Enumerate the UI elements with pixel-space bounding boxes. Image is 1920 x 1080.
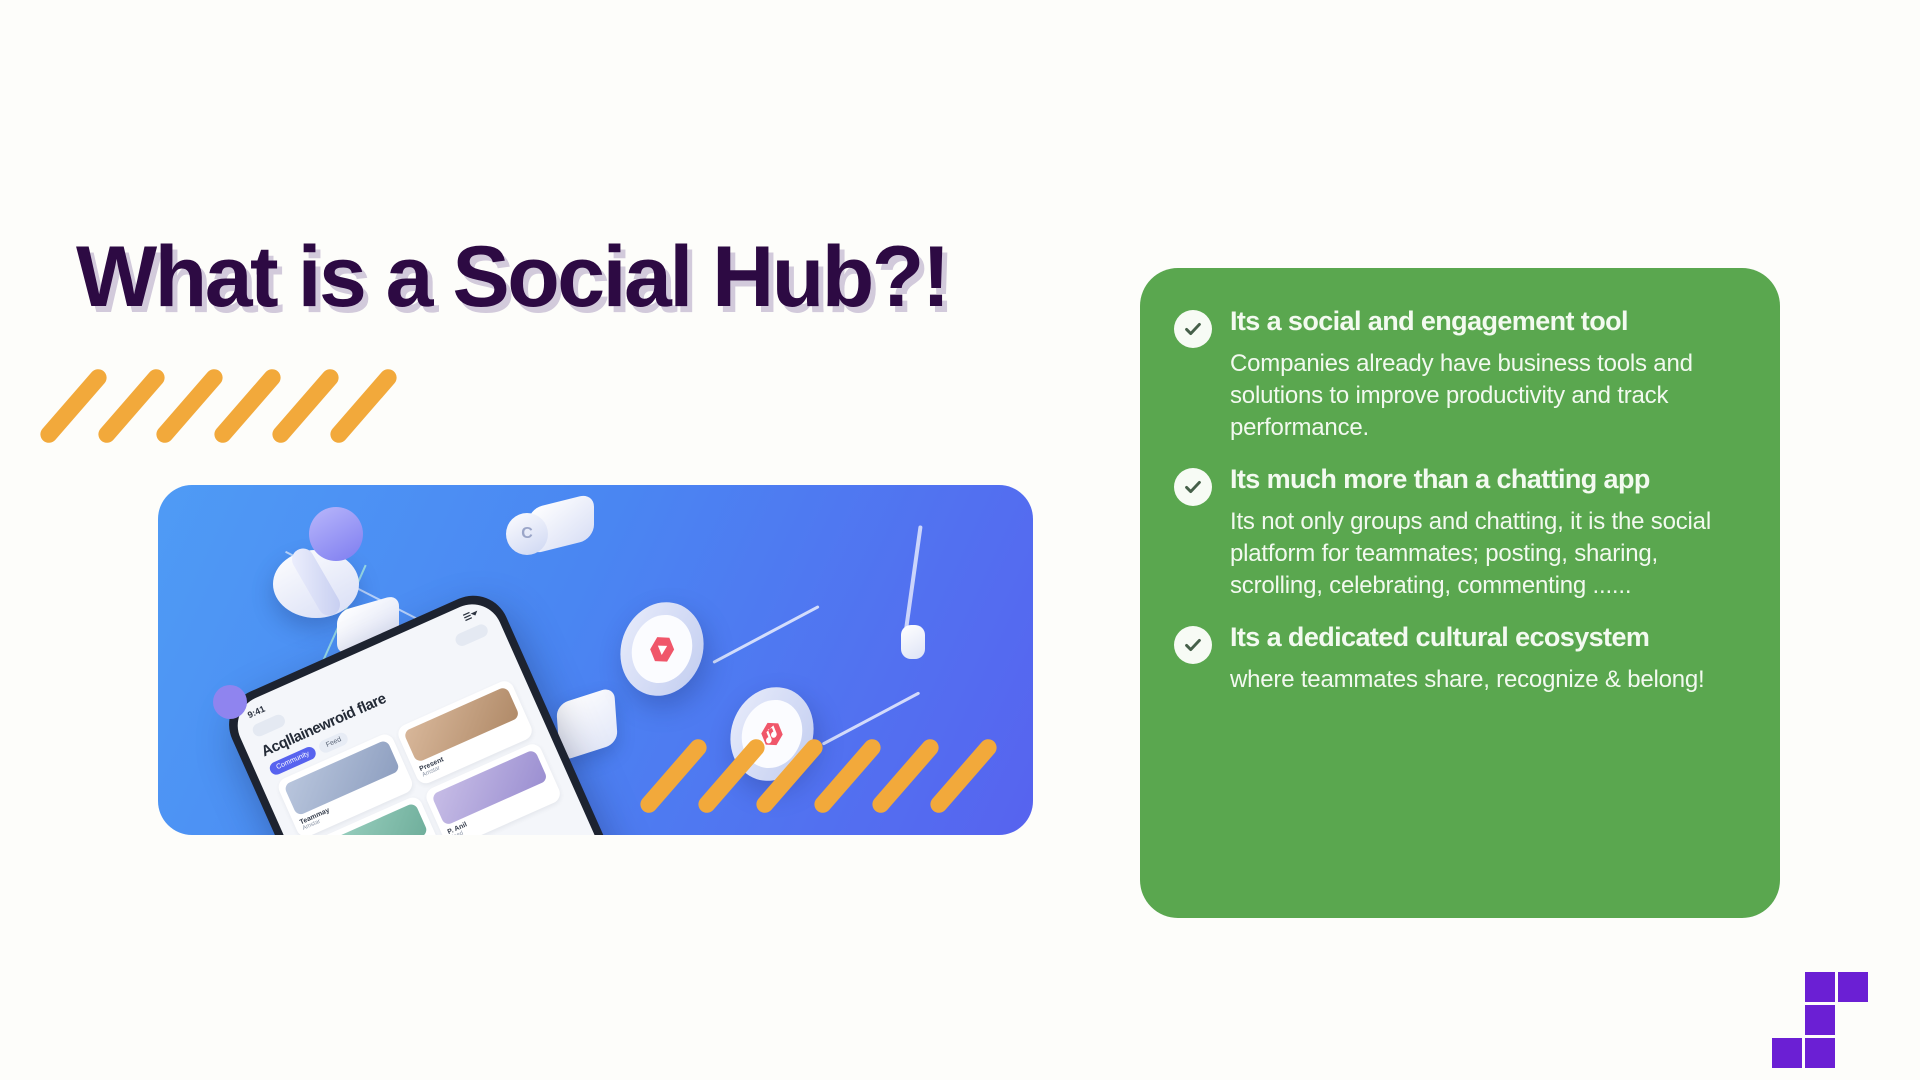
- feature-item: Its a social and engagement tool Compani…: [1174, 306, 1736, 444]
- check-mark: [1182, 634, 1204, 656]
- stripe: [153, 366, 226, 447]
- music-note-icon: [753, 712, 790, 755]
- check-mark: [1182, 476, 1204, 498]
- disc-needle-2: [822, 691, 921, 745]
- stripe: [211, 366, 284, 447]
- feature-body: Its a social and engagement tool Compani…: [1230, 306, 1736, 444]
- music-disc-icon: [717, 670, 826, 797]
- feature-body: Its much more than a chatting app Its no…: [1230, 464, 1736, 602]
- play-disc-face: [622, 603, 702, 696]
- logo-cell: [1772, 1038, 1802, 1068]
- check-circle-icon: [1174, 468, 1212, 506]
- feature-text: where teammates share, recognize & belon…: [1230, 664, 1736, 696]
- feature-title: Its much more than a chatting app: [1230, 464, 1736, 495]
- illustration-container: C: [75, 425, 1050, 835]
- logo-cell: [1838, 1005, 1868, 1035]
- cable-plug-icon: [893, 525, 933, 675]
- logo-cell: [1772, 1005, 1802, 1035]
- stripe: [37, 366, 110, 447]
- features-card: Its a social and engagement tool Compani…: [1140, 268, 1780, 918]
- logo-cell: [1838, 1038, 1868, 1068]
- page-title: What is a Social Hub?!: [76, 228, 948, 327]
- music-disc-face: [732, 688, 812, 781]
- joystick-ball: [309, 507, 363, 561]
- checkerboard-logo: [1772, 972, 1868, 1068]
- feature-text: Its not only groups and chatting, it is …: [1230, 506, 1736, 602]
- disc-needle: [712, 605, 819, 664]
- play-icon: [641, 624, 683, 673]
- logo-cell: [1772, 972, 1802, 1002]
- decorative-dot: [213, 685, 247, 719]
- camera-lens: C: [506, 513, 548, 555]
- stripe-group-top: [65, 360, 485, 470]
- stripe: [95, 366, 168, 447]
- logo-cell: [1805, 1005, 1835, 1035]
- joystick-icon: [263, 505, 383, 625]
- logo-cell: [1838, 972, 1868, 1002]
- cable-line: [903, 525, 922, 634]
- cable-plug: [901, 625, 925, 659]
- feature-item: Its much more than a chatting app Its no…: [1174, 464, 1736, 602]
- stripe: [269, 366, 342, 447]
- check-mark: [1182, 318, 1204, 340]
- check-circle-icon: [1174, 310, 1212, 348]
- logo-cell: [1805, 1038, 1835, 1068]
- feature-text: Companies already have business tools an…: [1230, 348, 1736, 444]
- camera-icon: C: [506, 493, 596, 563]
- feature-title: Its a dedicated cultural ecosystem: [1230, 622, 1736, 653]
- play-disc-icon: [607, 585, 716, 712]
- check-circle-icon: [1174, 626, 1212, 664]
- illustration-blue-card: C: [158, 485, 1033, 835]
- logo-cell: [1805, 972, 1835, 1002]
- feature-item: Its a dedicated cultural ecosystem where…: [1174, 622, 1736, 696]
- phone-screen: 9:41 ☰⏷ Acqllainewroid flare Community F…: [228, 595, 656, 835]
- feature-title: Its a social and engagement tool: [1230, 306, 1736, 337]
- stripe: [327, 366, 400, 447]
- feature-body: Its a dedicated cultural ecosystem where…: [1230, 622, 1736, 696]
